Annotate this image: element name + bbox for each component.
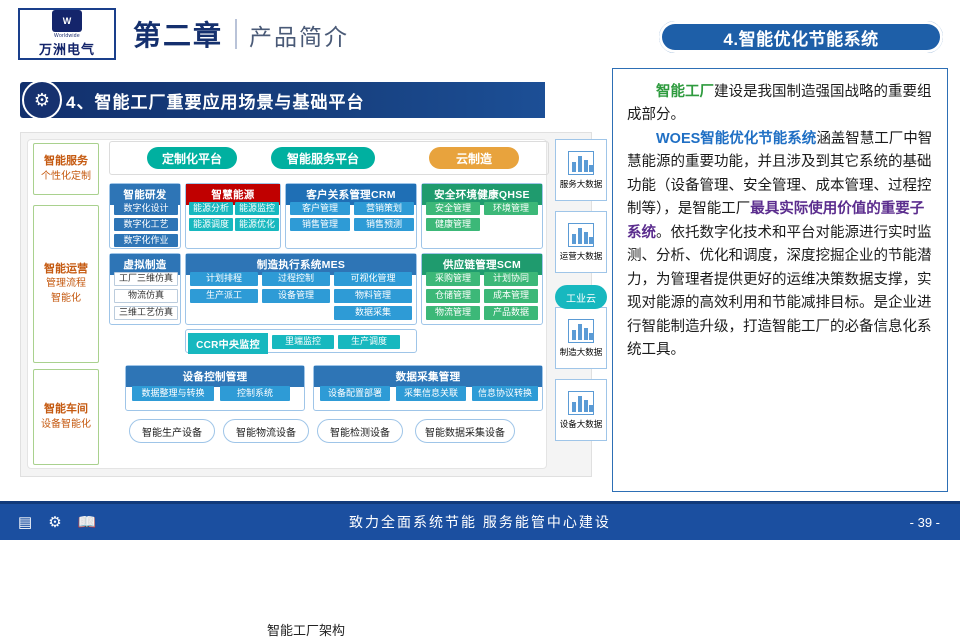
bar-chart-icon [568, 223, 594, 247]
chapter-title: 第二章 [133, 14, 223, 54]
cell-设备管理[interactable]: 设备管理 [262, 289, 330, 303]
bar-chart-icon [568, 391, 594, 415]
gear-icon: ⚙ [22, 80, 62, 120]
group-CCR中央监控: CCR中央监控里端监控生产调度 [185, 329, 417, 353]
left-label-0-line-0: 智能服务 [44, 154, 88, 170]
section-title-bar: 4、智能工厂重要应用场景与基础平台 [20, 82, 545, 118]
group-title: 数据采集管理 [314, 366, 542, 387]
cell-采购管理[interactable]: 采购管理 [426, 272, 480, 286]
cell-环境管理[interactable]: 环境管理 [484, 202, 538, 215]
bigdata-label-1: 运营大数据 [560, 250, 603, 262]
cell-计划协同[interactable]: 计划协同 [484, 272, 538, 286]
cell-工厂三维仿真[interactable]: 工厂三维仿真 [114, 272, 178, 286]
left-label-2: 智能车间设备智能化 [33, 369, 99, 465]
cell-物流管理[interactable]: 物流管理 [426, 306, 480, 320]
cell-物料管理[interactable]: 物料管理 [334, 289, 412, 303]
description-panel: 智能工厂建设是我国制造强国战略的重要组成部分。 WOES智能优化节能系统涵盖智慧… [612, 68, 948, 492]
cell-控制系统[interactable]: 控制系统 [220, 386, 290, 401]
group-安全环境健康QHSE: 安全环境健康QHSE安全管理环境管理健康管理 [421, 183, 543, 249]
group-智能研发: 智能研发数字化设计数字化工艺数字化作业 [109, 183, 181, 249]
bigdata-label-0: 服务大数据 [560, 178, 603, 190]
cell-仓储管理[interactable]: 仓储管理 [426, 289, 480, 303]
group-智慧能源: 智慧能源能源分析能源监控能源调度能源优化 [185, 183, 281, 249]
group-title: CCR中央监控 [188, 333, 268, 354]
cell-数字化作业[interactable]: 数字化作业 [114, 234, 178, 247]
bigdata-card-3[interactable]: 设备大数据 [555, 379, 607, 441]
bottom-pill-1[interactable]: 智能物流设备 [223, 419, 309, 443]
bigdata-card-1[interactable]: 运营大数据 [555, 211, 607, 273]
chapter-subtitle: 产品简介 [249, 18, 349, 52]
cell-产品数据[interactable]: 产品数据 [484, 306, 538, 320]
group-title: 设备控制管理 [126, 366, 304, 387]
chapter-divider [235, 19, 237, 49]
cell-能源调度[interactable]: 能源调度 [189, 218, 233, 231]
footer-slogan: 致力全面系统节能 服务能管中心建设 [0, 512, 960, 532]
cell-可视化管理[interactable]: 可视化管理 [334, 272, 412, 286]
bigdata-card-0[interactable]: 服务大数据 [555, 139, 607, 201]
cell-生产派工[interactable]: 生产派工 [190, 289, 258, 303]
cell-三维工艺仿真[interactable]: 三维工艺仿真 [114, 306, 178, 320]
bigdata-label-3: 设备大数据 [560, 418, 603, 430]
paragraph-2-post: 。依托数字化技术和平台对能源进行实时监测、分析、优化和调度，深度挖掘企业的节能潜… [627, 225, 932, 358]
cell-生产调度[interactable]: 生产调度 [338, 335, 400, 349]
cell-数据整理与转换[interactable]: 数据整理与转换 [132, 386, 214, 401]
cell-营销策划[interactable]: 营销策划 [354, 202, 414, 215]
left-label-0: 智能服务个性化定制 [33, 143, 99, 195]
cell-数字化工艺[interactable]: 数字化工艺 [114, 218, 178, 231]
bigdata-card-2[interactable]: 制造大数据 [555, 307, 607, 369]
paragraph-1: 智能工厂建设是我国制造强国战略的重要组成部分。 [627, 81, 933, 128]
cell-数据采集[interactable]: 数据采集 [334, 306, 412, 320]
bottom-pill-0[interactable]: 智能生产设备 [129, 419, 215, 443]
cell-数字化设计[interactable]: 数字化设计 [114, 202, 178, 215]
left-label-1-line-0: 智能运营 [44, 262, 88, 278]
cell-能源优化[interactable]: 能源优化 [235, 218, 279, 231]
cell-信息协议转换[interactable]: 信息协议转换 [472, 386, 538, 401]
page-number: - 39 - [910, 515, 940, 530]
top-platform-row [109, 141, 549, 175]
cell-健康管理[interactable]: 健康管理 [426, 218, 480, 231]
group-供应链管理SCM: 供应链管理SCM采购管理计划协同仓储管理成本管理物流管理产品数据 [421, 253, 543, 325]
group-数据采集管理: 数据采集管理设备配置部署采集信息关联信息协议转换 [313, 365, 543, 411]
paragraph-2: WOES智能优化节能系统涵盖智慧工厂中智慧能源的重要功能，并且涉及到其它系统的基… [627, 128, 933, 363]
left-label-1-line-2: 智能化 [51, 292, 81, 307]
highlight-woes: WOES智能优化节能系统 [656, 131, 816, 147]
topic-badge: 4.智能优化节能系统 [656, 18, 946, 56]
slide-footer: ▤ ⚙ 📖 致力全面系统节能 服务能管中心建设 - 39 - [0, 504, 960, 540]
cell-物流仿真[interactable]: 物流仿真 [114, 289, 178, 303]
bar-chart-icon [568, 319, 594, 343]
group-虚拟制造: 虚拟制造工厂三维仿真物流仿真三维工艺仿真 [109, 253, 181, 325]
cell-成本管理[interactable]: 成本管理 [484, 289, 538, 303]
left-label-2-line-1: 设备智能化 [41, 418, 91, 433]
logo-mark-icon: W [52, 10, 82, 32]
left-label-1: 智能运营管理流程智能化 [33, 205, 99, 363]
bigdata-label-2: 制造大数据 [560, 346, 603, 358]
slide-header: W Worldwide 万洲电气 第二章 产品简介 4.智能优化节能系统 [0, 0, 960, 70]
cell-能源监控[interactable]: 能源监控 [235, 202, 279, 215]
cell-采集信息关联[interactable]: 采集信息关联 [396, 386, 466, 401]
cell-过程控制[interactable]: 过程控制 [262, 272, 330, 286]
smart-factory-architecture-diagram: 智能服务个性化定制智能运营管理流程智能化智能车间设备智能化定制化平台智能服务平台… [20, 132, 592, 477]
cell-里端监控[interactable]: 里端监控 [272, 335, 334, 349]
cloud-pill[interactable]: 工业云 [555, 285, 607, 309]
left-label-0-line-1: 个性化定制 [41, 170, 91, 185]
bar-chart-icon [568, 151, 594, 175]
group-客户关系管理CRM: 客户关系管理CRM客户管理营销策划销售管理销售预测 [285, 183, 417, 249]
left-label-1-line-1: 管理流程 [46, 277, 86, 292]
company-logo: W Worldwide 万洲电气 [18, 8, 116, 60]
cell-能源分析[interactable]: 能源分析 [189, 202, 233, 215]
cell-设备配置部署[interactable]: 设备配置部署 [320, 386, 390, 401]
bottom-pill-2[interactable]: 智能检测设备 [317, 419, 403, 443]
cell-安全管理[interactable]: 安全管理 [426, 202, 480, 215]
highlight-smart-factory: 智能工厂 [656, 84, 714, 100]
left-label-2-line-0: 智能车间 [44, 402, 88, 418]
cell-销售预测[interactable]: 销售预测 [354, 218, 414, 231]
diagram-caption: 智能工厂架构 [267, 620, 345, 639]
logo-chinese-name: 万洲电气 [39, 39, 95, 58]
group-设备控制管理: 设备控制管理数据整理与转换控制系统 [125, 365, 305, 411]
chapter-heading: 第二章 产品简介 [133, 14, 349, 54]
cell-客户管理[interactable]: 客户管理 [290, 202, 350, 215]
cell-计划排程[interactable]: 计划排程 [190, 272, 258, 286]
bottom-pill-3[interactable]: 智能数据采集设备 [415, 419, 515, 443]
section-title: 4、智能工厂重要应用场景与基础平台 [66, 88, 364, 113]
cell-销售管理[interactable]: 销售管理 [290, 218, 350, 231]
group-制造执行系统MES: 制造执行系统MES计划排程过程控制可视化管理生产派工设备管理物料管理数据采集 [185, 253, 417, 325]
